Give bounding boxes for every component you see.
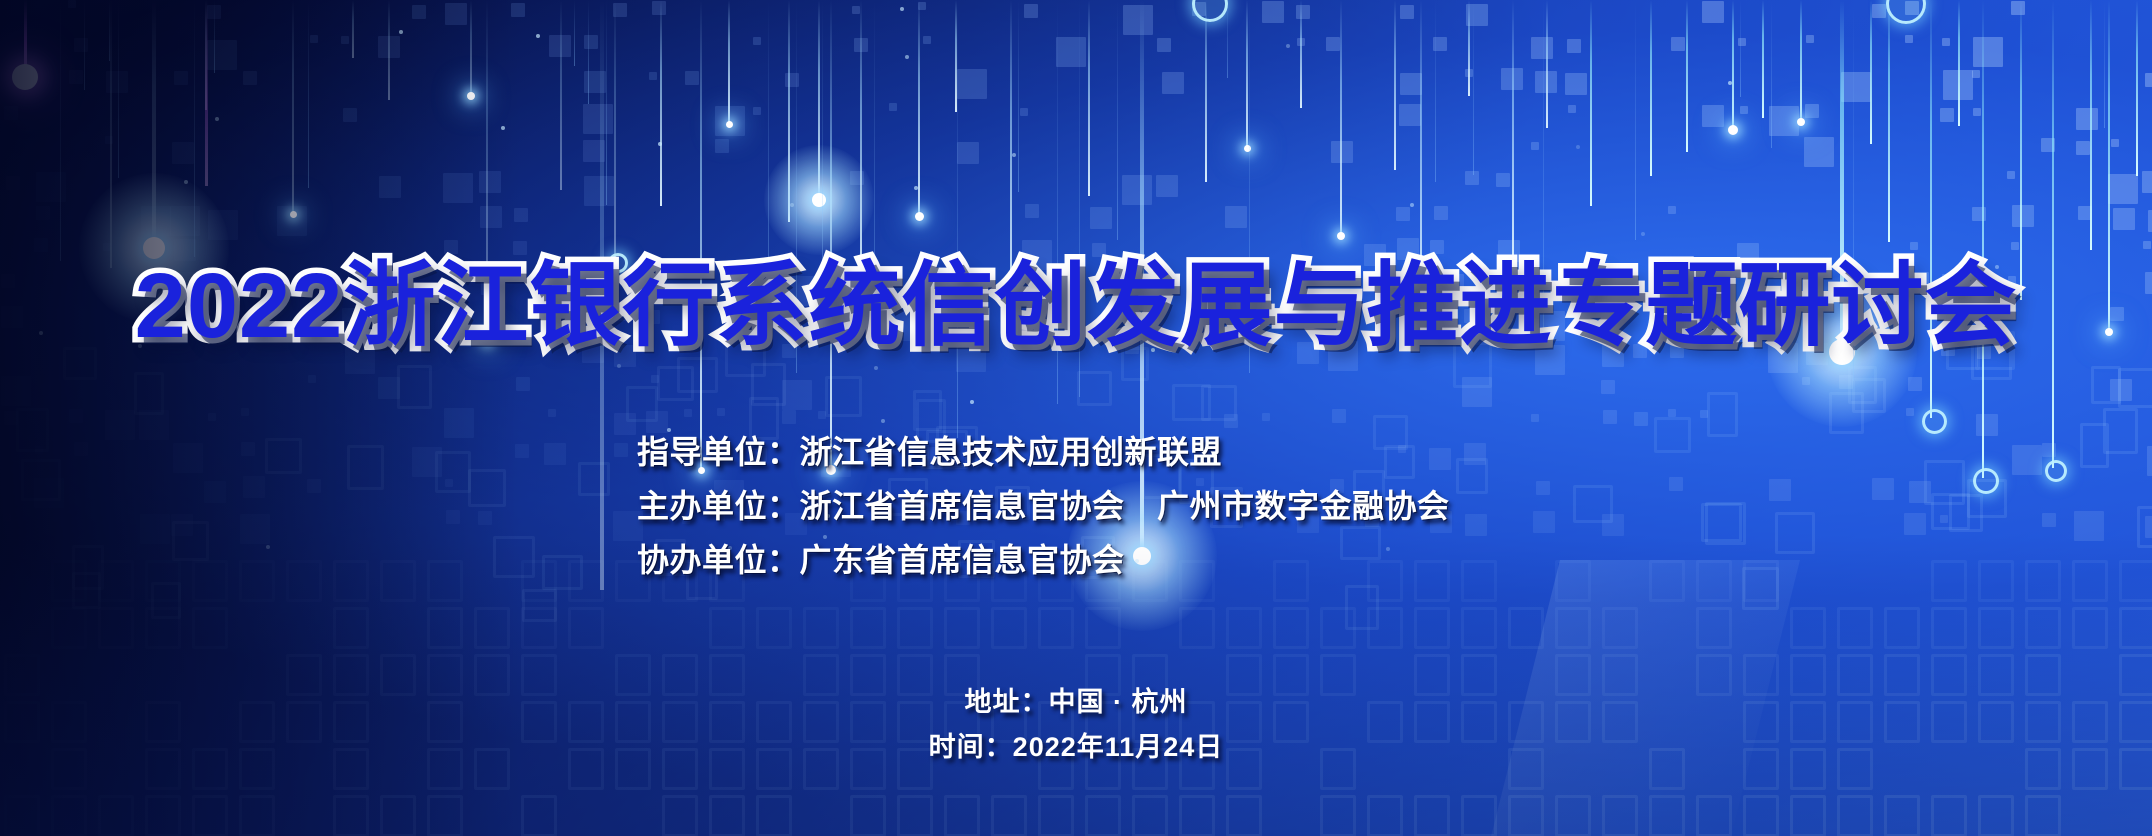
page-title: 2022浙江银行系统信创发展与推进专题研讨会 (0, 258, 2152, 355)
event-location: 地址：中国 · 杭州 (0, 680, 2152, 725)
organization-line-co-host: 协办单位：广东省首席信息官协会 (637, 533, 1450, 587)
organization-line-guidance: 指导单位：浙江省信息技术应用创新联盟 (637, 425, 1450, 479)
poster-content: 2022浙江银行系统信创发展与推进专题研讨会 指导单位：浙江省信息技术应用创新联… (0, 0, 2152, 836)
event-date: 时间：2022年11月24日 (0, 725, 2152, 770)
organization-list: 指导单位：浙江省信息技术应用创新联盟 主办单位：浙江省首席信息官协会 广州市数字… (637, 425, 1450, 587)
conference-banner: 2022浙江银行系统信创发展与推进专题研讨会 指导单位：浙江省信息技术应用创新联… (0, 0, 2152, 836)
event-details: 地址：中国 · 杭州 时间：2022年11月24日 (0, 680, 2152, 770)
organization-line-host: 主办单位：浙江省首席信息官协会 广州市数字金融协会 (637, 479, 1450, 533)
